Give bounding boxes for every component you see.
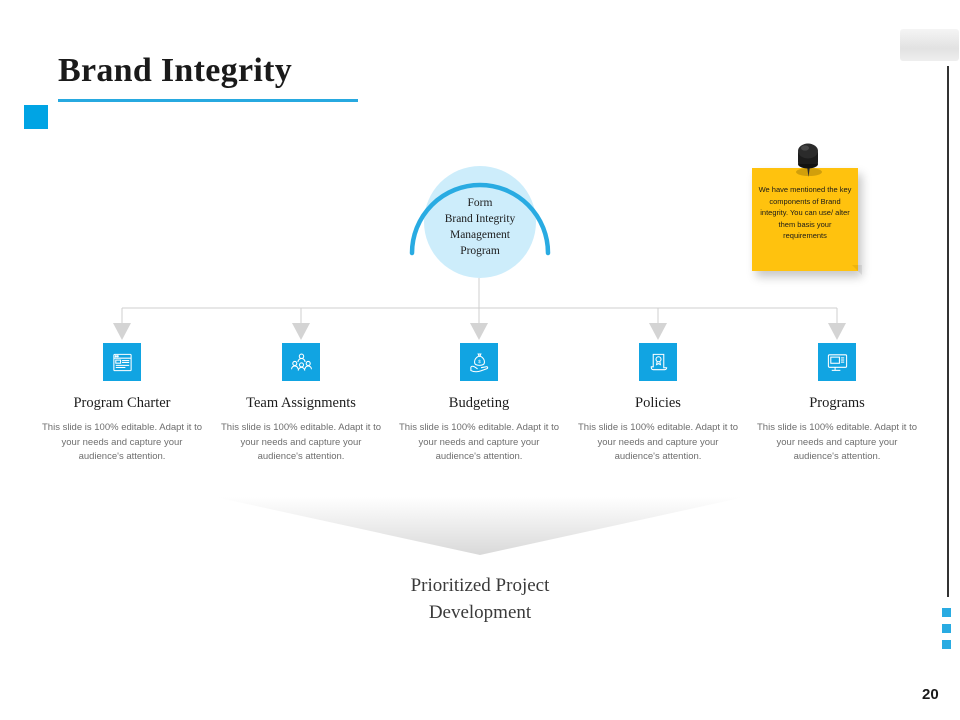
hub-label-line2: Brand Integrity [416,211,544,227]
title-underline-rule [58,99,358,102]
branch-column-team-assignments[interactable]: Team Assignments This slide is 100% edit… [221,343,381,465]
slide-canvas: Brand Integrity 20 Form Brand Integrity … [0,0,960,720]
hand-money-bag-icon: $ [460,343,498,381]
bottom-caption: Prioritized Project Development [290,572,670,626]
hub-label: Form Brand Integrity Management Program [416,195,544,259]
form-document-icon [103,343,141,381]
page-title: Brand Integrity [58,52,292,90]
column-body-text: This slide is 100% editable. Adapt it to… [42,421,202,465]
svg-text:$: $ [478,359,481,365]
column-body-text: This slide is 100% editable. Adapt it to… [399,421,559,465]
dot-marker-1 [942,608,951,617]
bottom-caption-line1: Prioritized Project [290,572,670,599]
column-body-text: This slide is 100% editable. Adapt it to… [578,421,738,465]
hub-label-line1: Form [416,195,544,211]
connector-lines [0,278,960,348]
team-people-icon [282,343,320,381]
down-chevron-shape [215,497,745,555]
title-accent-square [24,105,48,129]
column-title: Program Charter [42,395,202,412]
hub-label-line4: Program [416,243,544,259]
right-dot-markers [942,608,952,656]
column-body-text: This slide is 100% editable. Adapt it to… [757,421,917,465]
hub-node: Form Brand Integrity Management Program [424,166,536,278]
column-title: Team Assignments [221,395,381,412]
pushpin-icon [788,139,828,181]
branch-column-budgeting[interactable]: $ Budgeting This slide is 100% editable.… [399,343,559,465]
column-title: Policies [578,395,738,412]
column-title: Budgeting [399,395,559,412]
sticky-note: We have mentioned the key components of … [752,168,862,276]
branch-column-program-charter[interactable]: Program Charter This slide is 100% edita… [42,343,202,465]
top-right-gray-box [900,29,959,61]
dot-marker-2 [942,624,951,633]
hub-label-line3: Management [416,227,544,243]
monitor-screen-icon [818,343,856,381]
column-title: Programs [757,395,917,412]
policy-scroll-icon [639,343,677,381]
sticky-note-text: We have mentioned the key components of … [756,184,854,242]
branch-column-programs[interactable]: Programs This slide is 100% editable. Ad… [757,343,917,465]
column-body-text: This slide is 100% editable. Adapt it to… [221,421,381,465]
page-number: 20 [922,686,939,703]
branch-column-policies[interactable]: Policies This slide is 100% editable. Ad… [578,343,738,465]
bottom-caption-line2: Development [290,599,670,626]
dot-marker-3 [942,640,951,649]
